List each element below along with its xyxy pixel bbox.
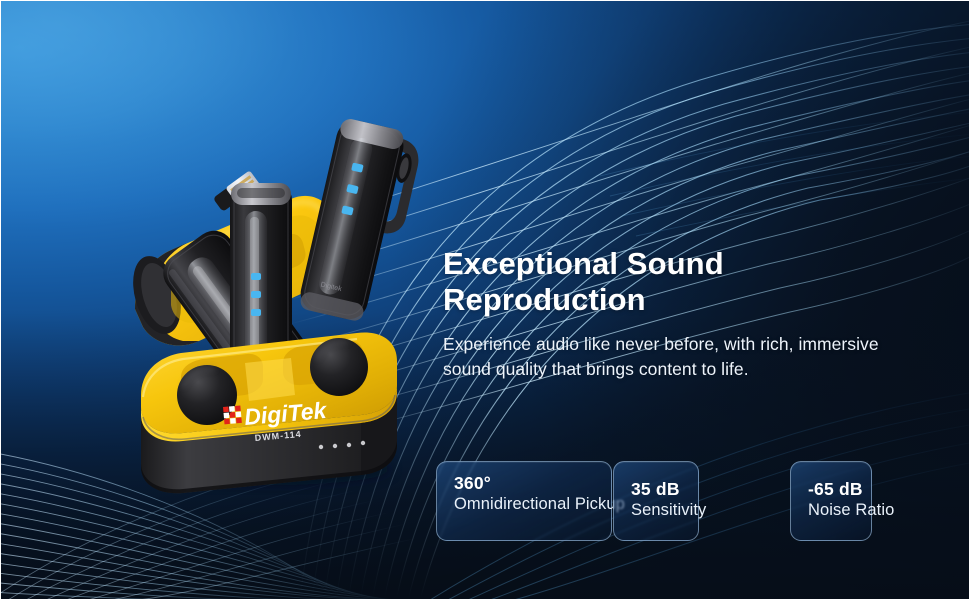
page-title: Exceptional Sound Reproduction xyxy=(443,246,923,319)
foam-windscreen-right xyxy=(310,338,368,396)
spec-value: 35 dB xyxy=(631,479,698,500)
spec-label: Sensitivity xyxy=(631,500,698,521)
charging-case: DigiTek DWM-114 xyxy=(141,333,397,494)
spec-label: Noise Ratio xyxy=(808,500,871,521)
copy-block: Exceptional Sound Reproduction Experienc… xyxy=(443,246,923,382)
led-indicators-center xyxy=(251,273,261,316)
spec-badge-noise-ratio: -65 dB Noise Ratio xyxy=(790,461,872,541)
subtitle-paragraph: Experience audio like never before, with… xyxy=(443,332,915,382)
product-image-wireless-microphone-set: Digitek xyxy=(95,95,455,495)
spec-badge-group: 360° Omnidirectional Pickup 35 dB Sensit… xyxy=(436,461,956,547)
spec-badge-pickup: 360° Omnidirectional Pickup xyxy=(436,461,612,541)
product-feature-banner: Digitek xyxy=(0,0,970,600)
spec-label: Omnidirectional Pickup xyxy=(454,494,611,515)
microphone-unit-center xyxy=(230,183,292,368)
spec-value: 360° xyxy=(454,473,611,494)
spec-value: -65 dB xyxy=(808,479,871,500)
spec-badge-sensitivity: 35 dB Sensitivity xyxy=(613,461,699,541)
